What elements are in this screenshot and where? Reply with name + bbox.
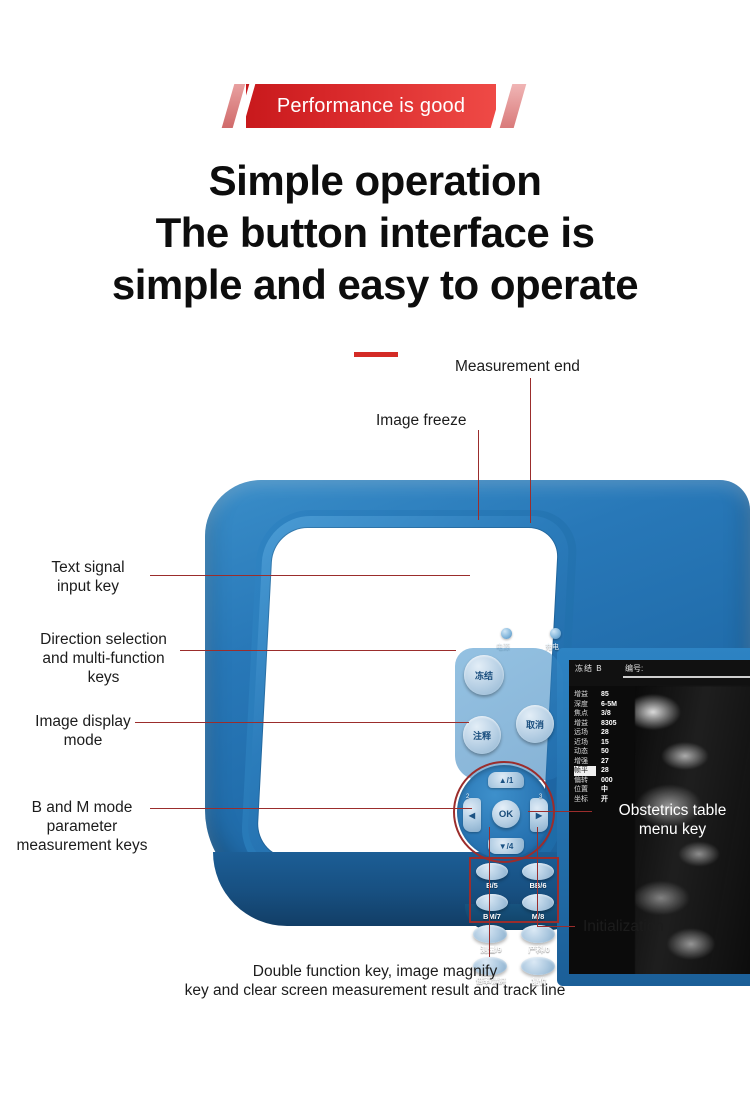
param-value: 27 bbox=[601, 757, 609, 767]
freeze-button[interactable]: 冻结 bbox=[464, 655, 504, 695]
cancel-button[interactable]: 取消 bbox=[516, 705, 554, 743]
screen-param-row: 增益85 bbox=[574, 690, 644, 700]
callout-measurement-end: Measurement end bbox=[455, 357, 580, 376]
b-mode-button[interactable] bbox=[476, 863, 508, 880]
leader-image-display-mode bbox=[135, 722, 469, 723]
param-value: 6-5M bbox=[601, 700, 617, 710]
power-led-icon bbox=[501, 628, 512, 639]
screen-header: 冻结 B 编号: bbox=[569, 660, 750, 686]
param-value: 中 bbox=[601, 785, 608, 795]
param-key: 近场 bbox=[574, 738, 596, 748]
page-root: Performance is good Simple operation The… bbox=[0, 0, 750, 1094]
dpad-down-button[interactable]: ▼/4 bbox=[488, 838, 524, 854]
leader-initialization-h bbox=[537, 926, 575, 927]
dpad-up-button[interactable]: ▲/1 bbox=[488, 772, 524, 788]
callout-obstetrics-table: Obstetrics table menu key bbox=[600, 801, 745, 839]
screen-param-row: 深度6-5M bbox=[574, 700, 644, 710]
param-key: 增益 bbox=[574, 719, 596, 729]
screen-param-row: 近场15 bbox=[574, 738, 644, 748]
freeze-button-label: 冻结 bbox=[475, 669, 493, 682]
leader-direction-selection bbox=[180, 650, 456, 651]
leader-image-freeze bbox=[478, 430, 479, 520]
screen-param-row: 增强27 bbox=[574, 757, 644, 767]
param-value: 85 bbox=[601, 690, 609, 700]
dpad-right-button[interactable]: ▶ bbox=[530, 798, 548, 832]
heading-line-1: Simple operation bbox=[0, 155, 750, 207]
b-mode-label: B/5 bbox=[476, 881, 508, 890]
dpad-left-number: 2 bbox=[466, 794, 469, 800]
callout-initialization: Initialization bbox=[583, 917, 664, 936]
obstetrics-label: 产科/0 bbox=[517, 944, 561, 955]
dpad-down-label: ▼/4 bbox=[499, 842, 514, 851]
annotate-button-label: 注释 bbox=[473, 729, 491, 742]
device-illustration: 冻结 B 编号: 增益85 深度6-5M 焦点3/8 增益8305 远场28 近… bbox=[0, 330, 750, 950]
param-key: 坐标 bbox=[574, 795, 596, 805]
banner: Performance is good bbox=[0, 84, 750, 128]
charge-led-label: 充电 bbox=[545, 642, 559, 652]
param-value: 8305 bbox=[601, 719, 617, 729]
screen-param-row: 位置中 bbox=[574, 785, 644, 795]
param-key: 帧平 bbox=[574, 766, 596, 776]
dpad-left-label: ◀ bbox=[469, 811, 475, 820]
dpad-right-number: 3 bbox=[539, 794, 542, 800]
param-key: 动态 bbox=[574, 747, 596, 757]
param-key: 位置 bbox=[574, 785, 596, 795]
screen-mode-label: 冻结 B bbox=[575, 663, 603, 674]
param-key: 偏转 bbox=[574, 776, 596, 786]
screen-param-row: 远场28 bbox=[574, 728, 644, 738]
obstetrics-button[interactable] bbox=[521, 925, 555, 943]
param-key: 增强 bbox=[574, 757, 596, 767]
leader-double-function bbox=[489, 827, 490, 957]
charge-led-icon bbox=[550, 628, 561, 639]
param-value: 15 bbox=[601, 738, 609, 748]
callout-direction-selection: Direction selection and multi-function k… bbox=[26, 630, 181, 687]
screen-parameter-list: 增益85 深度6-5M 焦点3/8 增益8305 远场28 近场15 动态50 … bbox=[574, 690, 644, 804]
leader-obstetrics-table bbox=[528, 811, 592, 812]
bm-mode-label: BM/7 bbox=[474, 912, 510, 921]
callout-image-display-mode: Image display mode bbox=[33, 712, 133, 750]
param-key: 远场 bbox=[574, 728, 596, 738]
leader-measurement-end bbox=[530, 378, 531, 523]
dpad-up-label: ▲/1 bbox=[499, 776, 514, 785]
param-value: 000 bbox=[601, 776, 613, 786]
screen-param-row: 偏转000 bbox=[574, 776, 644, 786]
heading-line-3: simple and easy to operate bbox=[0, 259, 750, 311]
callout-b-m-mode: B and M mode parameter measurement keys bbox=[16, 798, 148, 855]
page-title: Simple operation The button interface is… bbox=[0, 155, 750, 311]
screen-id-label: 编号: bbox=[625, 663, 643, 674]
screen-param-row: 增益8305 bbox=[574, 719, 644, 729]
param-value: 3/8 bbox=[601, 709, 611, 719]
measure-label: 测量/9 bbox=[469, 944, 513, 955]
heading-line-2: The button interface is bbox=[0, 207, 750, 259]
param-value: 28 bbox=[601, 728, 609, 738]
dpad-left-button[interactable]: ◀ bbox=[463, 798, 481, 832]
banner-text: Performance is good bbox=[277, 95, 465, 118]
banner-bar: Performance is good bbox=[246, 84, 496, 128]
leader-b-m-mode bbox=[150, 808, 472, 809]
screen-param-row: 帧平28 bbox=[574, 766, 644, 776]
dpad-ok-label: OK bbox=[499, 809, 513, 820]
param-value: 28 bbox=[601, 766, 609, 776]
param-key: 焦点 bbox=[574, 709, 596, 719]
bm-mode-button[interactable] bbox=[476, 894, 508, 911]
ultrasound-device: 冻结 B 编号: 增益85 深度6-5M 焦点3/8 增益8305 远场28 近… bbox=[205, 480, 750, 935]
screen-param-row: 动态50 bbox=[574, 747, 644, 757]
leader-initialization-v bbox=[537, 827, 538, 927]
cancel-button-label: 取消 bbox=[526, 718, 544, 731]
leader-text-signal bbox=[150, 575, 470, 576]
param-key: 增益 bbox=[574, 690, 596, 700]
callout-double-function: Double function key, image magnify key a… bbox=[25, 962, 725, 1000]
screen-id-rule bbox=[623, 676, 750, 678]
param-key: 深度 bbox=[574, 700, 596, 710]
callout-text-signal-input: Text signal input key bbox=[30, 558, 146, 596]
screen-param-row: 焦点3/8 bbox=[574, 709, 644, 719]
callout-image-freeze: Image freeze bbox=[376, 411, 466, 430]
dpad-ok-button[interactable]: OK bbox=[492, 800, 520, 828]
param-value: 50 bbox=[601, 747, 609, 757]
